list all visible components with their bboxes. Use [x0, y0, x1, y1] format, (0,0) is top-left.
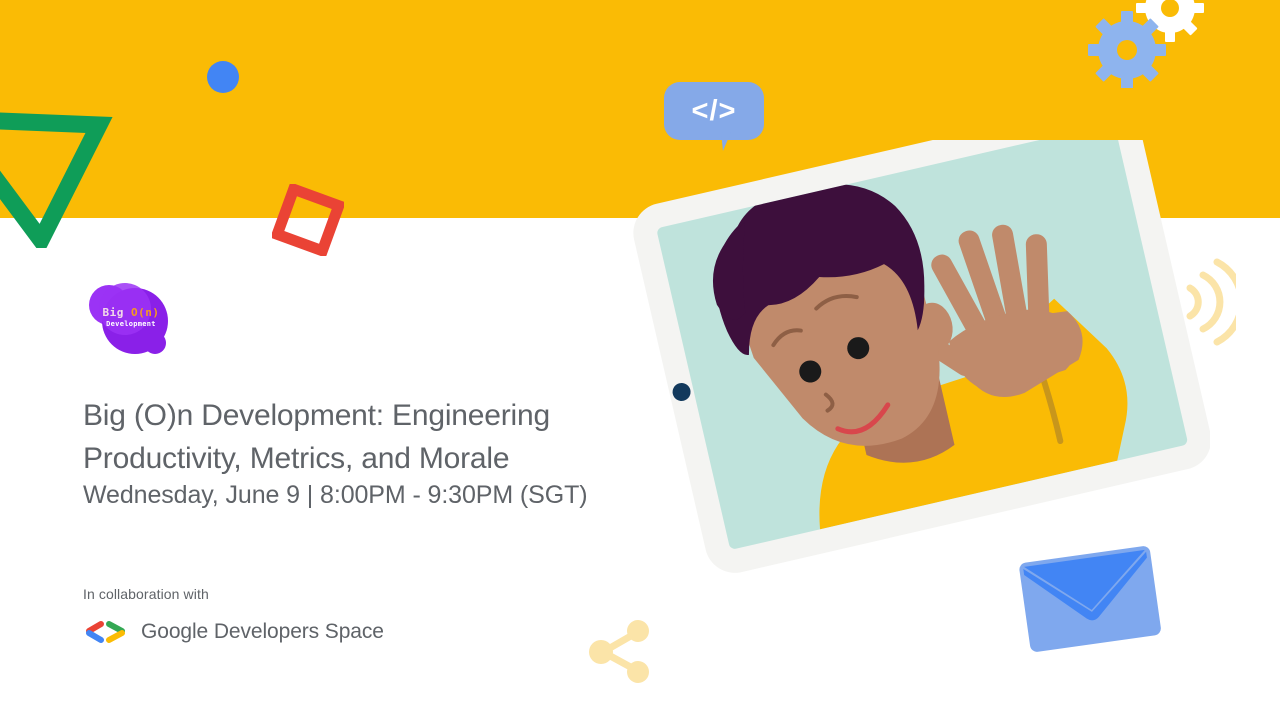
share-nodes-icon: [586, 616, 656, 686]
big-on-logo: Big O(n) Development: [83, 281, 179, 359]
code-speech-bubble-icon: </>: [664, 82, 764, 148]
tablet-waving-person-illustration: [630, 140, 1210, 610]
partner-row: Google Developers Space: [83, 617, 384, 647]
blue-circle-icon: [207, 61, 239, 93]
collaboration-label: In collaboration with: [83, 586, 209, 602]
bubble-code-text: </>: [664, 82, 764, 140]
google-developers-icon: [83, 617, 129, 647]
logo-line2: Development: [83, 320, 179, 329]
partner-name: Google Developers Space: [141, 620, 384, 644]
logo-line1: Big O(n): [83, 306, 179, 320]
page-title: Big (O)n Development: Engineering Produc…: [83, 395, 673, 480]
event-schedule: Wednesday, June 9 | 8:00PM - 9:30PM (SGT…: [83, 479, 703, 512]
event-banner: </>: [0, 0, 1280, 720]
logo-text: Big O(n) Development: [83, 306, 179, 329]
green-triangle-icon: [0, 103, 116, 248]
red-square-icon: [272, 184, 344, 256]
gears-icon: [1085, 0, 1215, 88]
